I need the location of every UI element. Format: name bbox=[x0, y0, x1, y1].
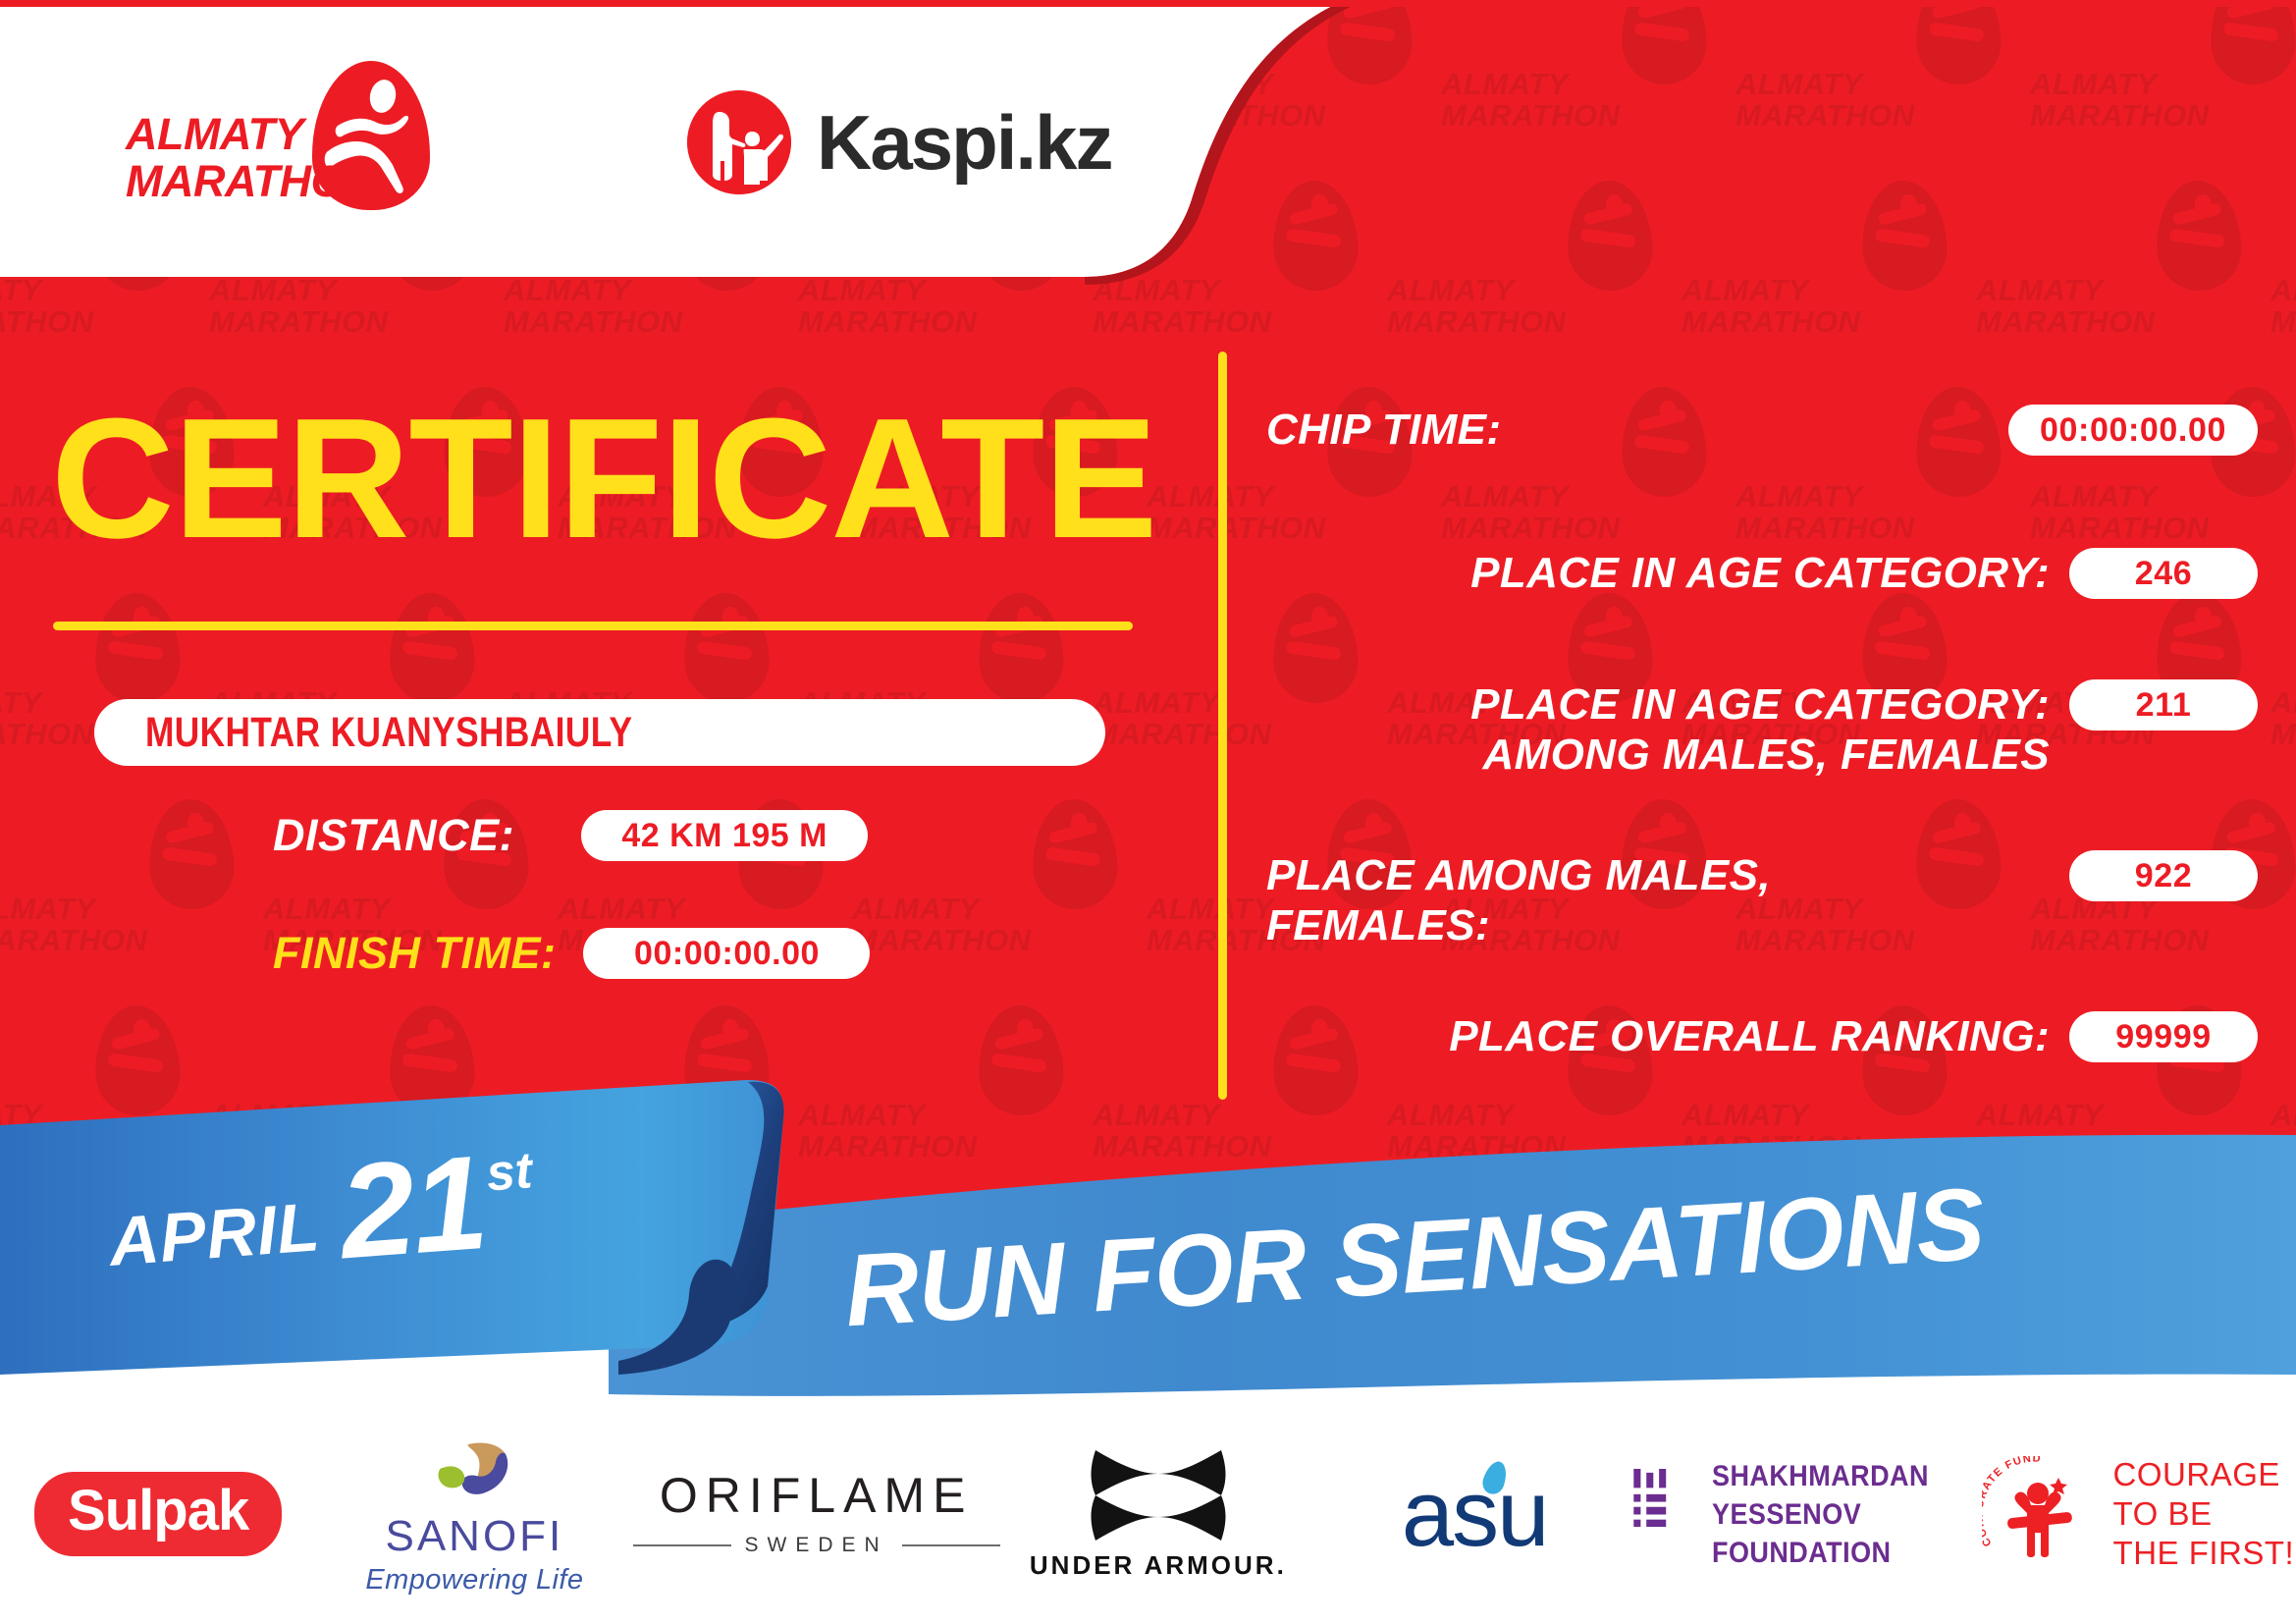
courage-line-3: THE FIRST! bbox=[2113, 1534, 2295, 1573]
almaty-marathon-logo: ALMATY MARATHON bbox=[126, 61, 450, 198]
watermark-line-1: ALMATY bbox=[1735, 67, 1863, 102]
kaspi-wordmark: Kaspi.kz bbox=[817, 104, 1111, 181]
courage-line-1: COURAGE bbox=[2113, 1455, 2295, 1494]
sponsor-asu: asu bbox=[1316, 1431, 1632, 1597]
sanofi-logo-icon bbox=[433, 1442, 515, 1511]
yessenov-logo-icon bbox=[1632, 1469, 1682, 1559]
chip-time-value: 00:00:00.00 bbox=[2008, 405, 2258, 456]
sponsor-under-armour: UNDER ARMOUR. bbox=[1000, 1431, 1316, 1597]
chip-time-label: CHIP TIME: bbox=[1266, 405, 1501, 455]
watermark-runner-head-icon bbox=[2195, 194, 2213, 216]
page-title: CERTIFICATE bbox=[51, 393, 1156, 564]
distance-row: DISTANCE: 42 KM 195 M bbox=[273, 810, 868, 861]
watermark-line-1: ALMATY bbox=[1682, 273, 1809, 308]
event-day: 21 bbox=[337, 1145, 489, 1270]
label-line-2: AMONG MALES, FEMALES bbox=[1482, 731, 2050, 779]
label-line-2: FEMALES: bbox=[1266, 901, 1490, 949]
watermark-line-1: ALMATY bbox=[1976, 273, 2104, 308]
place-age-category-gender-row: PLACE IN AGE CATEGORY: AMONG MALES, FEMA… bbox=[1266, 679, 2258, 780]
sponsor-oriflame: ORIFLAME SWEDEN bbox=[633, 1431, 1000, 1597]
sponsor-strip: Sulpak SANOFI Empowering Life ORIFLAME bbox=[0, 1404, 2296, 1624]
chip-time-row: CHIP TIME: 00:00:00.00 bbox=[1266, 405, 2258, 456]
sponsor-sulpak: Sulpak bbox=[0, 1431, 316, 1597]
finish-time-label: FINISH TIME: bbox=[273, 928, 556, 979]
finish-time-value: 00:00:00.00 bbox=[583, 928, 870, 979]
place-among-gender-value: 922 bbox=[2069, 850, 2258, 901]
place-age-category-gender-value: 211 bbox=[2069, 679, 2258, 731]
watermark-teardrop-icon bbox=[1860, 180, 1949, 293]
yessenov-line-2: FOUNDATION bbox=[1712, 1534, 1953, 1572]
oriflame-wordmark: ORIFLAME bbox=[633, 1471, 1000, 1520]
kaspi-logo: Kaspi.kz bbox=[687, 88, 1111, 196]
place-overall-label: PLACE OVERALL RANKING: bbox=[1266, 1011, 2050, 1061]
title-underline bbox=[53, 622, 1133, 630]
place-among-gender-row: PLACE AMONG MALES, FEMALES: 922 bbox=[1266, 850, 2258, 950]
place-age-category-gender-label: PLACE IN AGE CATEGORY: AMONG MALES, FEMA… bbox=[1266, 679, 2050, 780]
oriflame-subline: SWEDEN bbox=[633, 1534, 1000, 1557]
watermark-teardrop-icon bbox=[2155, 180, 2243, 293]
sanofi-wordmark: SANOFI bbox=[365, 1515, 583, 1558]
watermark-line-2: MARATHON bbox=[2030, 98, 2210, 134]
event-day-suffix: st bbox=[485, 1141, 535, 1203]
watermark-line-1: ALMATY bbox=[1387, 273, 1515, 308]
under-armour-glyph bbox=[1084, 1448, 1233, 1543]
label-line-1: PLACE AMONG MALES, bbox=[1266, 851, 1771, 899]
watermark-tile: ALMATYMARATHON bbox=[1433, 0, 1728, 177]
asu-wordmark: asu bbox=[1402, 1467, 1548, 1561]
watermark-teardrop-icon bbox=[1620, 0, 1708, 85]
divider-line-right bbox=[902, 1544, 1000, 1546]
watermark-line-1: ALMATY bbox=[1441, 67, 1569, 102]
sanofi-glyph bbox=[433, 1442, 515, 1511]
sponsor-yessenov-foundation: SHAKHMARDAN YESSENOV FOUNDATION bbox=[1632, 1431, 1980, 1597]
watermark-line-1: ALMATY bbox=[2030, 67, 2158, 102]
top-red-rule bbox=[0, 0, 2296, 7]
almaty-wordmark-line2: MARATHON bbox=[126, 159, 376, 203]
event-month: APRIL bbox=[107, 1187, 324, 1287]
watermark-runner-head-icon bbox=[1900, 194, 1918, 216]
right-column-results: CHIP TIME: 00:00:00.00 PLACE IN AGE CATE… bbox=[1266, 324, 2296, 1110]
sulpak-wordmark: Sulpak bbox=[34, 1472, 282, 1556]
place-overall-value: 99999 bbox=[2069, 1011, 2258, 1062]
kaspi-people-glyph bbox=[687, 90, 791, 194]
place-age-category-value: 246 bbox=[2069, 548, 2258, 599]
yessenov-wordmark: SHAKHMARDAN YESSENOV FOUNDATION bbox=[1712, 1457, 1980, 1572]
oriflame-country: SWEDEN bbox=[745, 1534, 888, 1557]
place-age-category-row: PLACE IN AGE CATEGORY: 246 bbox=[1266, 548, 2258, 599]
place-overall-row: PLACE OVERALL RANKING: 99999 bbox=[1266, 1011, 2258, 1062]
courage-fund-logo-icon: CORPORATE FUND bbox=[1982, 1456, 2098, 1572]
place-among-gender-label: PLACE AMONG MALES, FEMALES: bbox=[1266, 850, 2050, 950]
distance-value: 42 KM 195 M bbox=[581, 810, 868, 861]
finish-time-row: FINISH TIME: 00:00:00.00 bbox=[273, 928, 870, 979]
watermark-line-1: ALMATY bbox=[2270, 273, 2296, 308]
under-armour-wordmark: UNDER ARMOUR. bbox=[1030, 1550, 1287, 1581]
watermark-line-2: MARATHON bbox=[1441, 98, 1621, 134]
watermark-teardrop-icon bbox=[1914, 0, 2002, 85]
kaspi-people-circle-icon bbox=[687, 90, 791, 194]
watermark-teardrop-icon bbox=[2209, 0, 2296, 85]
courage-line-2: TO BE bbox=[2113, 1494, 2295, 1534]
watermark-teardrop-icon bbox=[1566, 180, 1654, 293]
watermark-line-2: MARATHON bbox=[1735, 98, 1915, 134]
athlete-name-field: MUKHTAR KUANYSHBAIULY bbox=[94, 699, 1105, 766]
sanofi-tagline: Empowering Life bbox=[365, 1564, 583, 1597]
divider-line-left bbox=[633, 1544, 731, 1546]
vertical-yellow-divider bbox=[1218, 352, 1227, 1100]
athlete-name-value: MUKHTAR KUANYSHBAIULY bbox=[145, 709, 632, 757]
certificate-page: ALMATYMARATHONALMATYMARATHONALMATYMARATH… bbox=[0, 0, 2296, 1624]
under-armour-logo-icon bbox=[1084, 1448, 1233, 1543]
distance-label: DISTANCE: bbox=[273, 810, 514, 861]
place-age-category-label: PLACE IN AGE CATEGORY: bbox=[1266, 548, 2050, 598]
yessenov-line-1: SHAKHMARDAN YESSENOV bbox=[1712, 1457, 1953, 1534]
left-column: CERTIFICATE MUKHTAR KUANYSHBAIULY DISTAN… bbox=[0, 324, 1178, 1110]
sponsor-sanofi: SANOFI Empowering Life bbox=[316, 1431, 632, 1597]
watermark-runner-head-icon bbox=[1606, 194, 1624, 216]
label-line-1: PLACE IN AGE CATEGORY: bbox=[1470, 680, 2050, 729]
watermark-tile: ALMATYMARATHON bbox=[1728, 0, 2022, 177]
watermark-tile: ALMATYMARATHON bbox=[2022, 0, 2296, 177]
yessenov-bars-glyph bbox=[1632, 1469, 1682, 1527]
courage-fund-wordmark: COURAGE TO BE THE FIRST! bbox=[2113, 1455, 2295, 1574]
sponsor-courage-fund: CORPORATE FUND COURAGE TO BE THE FIRST! bbox=[1980, 1431, 2296, 1597]
courage-figure-glyph: CORPORATE FUND bbox=[1982, 1456, 2098, 1572]
brand-row: ALMATY MARATHON Kaspi.kz bbox=[0, 0, 1227, 277]
almaty-wordmark-line1: ALMATY bbox=[126, 112, 303, 156]
